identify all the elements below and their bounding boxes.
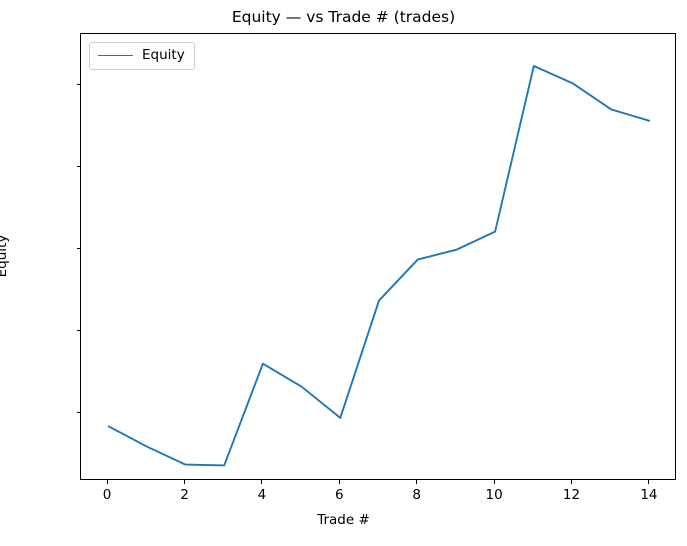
x-tick-label: 6	[319, 487, 359, 503]
chart-figure: Equity — vs Trade # (trades) Equity 2002…	[0, 0, 687, 546]
chart-title: Equity — vs Trade # (trades)	[0, 8, 687, 26]
y-axis-label: Equity	[0, 235, 10, 278]
equity-line-series	[108, 66, 650, 465]
x-tick-label: 8	[397, 487, 437, 503]
x-tick-label: 12	[552, 487, 592, 503]
legend-label-equity: Equity	[142, 49, 185, 63]
chart-legend: Equity	[89, 42, 195, 70]
x-axis-label: Trade #	[0, 512, 687, 528]
x-tick-label: 0	[87, 487, 127, 503]
plot-area	[80, 33, 676, 480]
x-tick-label: 4	[242, 487, 282, 503]
x-tick-label: 14	[629, 487, 669, 503]
x-tick-label: 10	[474, 487, 514, 503]
data-series-layer	[81, 34, 677, 481]
legend-line-swatch-equity	[98, 55, 133, 56]
x-tick-label: 2	[164, 487, 204, 503]
